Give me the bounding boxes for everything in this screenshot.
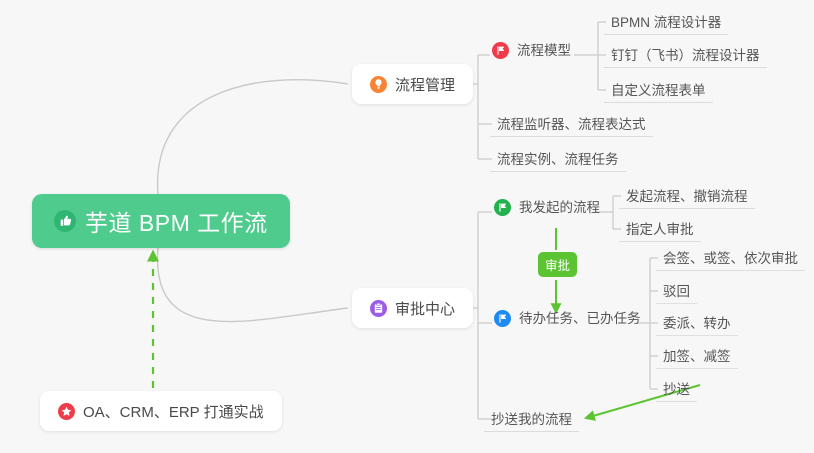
- leaf-label-add-remove-sign: 加签、减签: [663, 348, 731, 365]
- edge-root-to-approval-center: [158, 248, 348, 322]
- branch-node-process-management[interactable]: 流程管理: [352, 64, 473, 104]
- root-node[interactable]: 芋道 BPM 工作流: [32, 194, 290, 248]
- leaf-countersign[interactable]: 会签、或签、依次审批: [656, 245, 805, 271]
- root-label: 芋道 BPM 工作流: [85, 204, 268, 238]
- leaf-label-process-listener: 流程监听器、流程表达式: [497, 116, 646, 133]
- footer-node-label: OA、CRM、ERP 打通实战: [83, 401, 264, 422]
- annotation-badge-approval-label: 审批: [545, 255, 570, 274]
- leaf-add-remove-sign[interactable]: 加签、减签: [656, 343, 738, 369]
- clipboard-icon: [370, 300, 387, 317]
- leaf-cc-to-me[interactable]: 抄送我的流程: [484, 406, 579, 432]
- branch-label-approval-center: 审批中心: [395, 298, 455, 319]
- leaf-delegate-transfer[interactable]: 委派、转办: [656, 310, 738, 336]
- mindmap-canvas: 芋道 BPM 工作流 流程管理 流程模型 BPMN 流程设计器 钉钉（飞书: [0, 0, 814, 453]
- node-todo-done-tasks[interactable]: 待办任务、已办任务: [492, 310, 641, 327]
- leaf-process-instance[interactable]: 流程实例、流程任务: [490, 146, 626, 172]
- edge-root-to-process-management: [158, 80, 348, 195]
- leaf-label-process-instance: 流程实例、流程任务: [497, 151, 619, 168]
- node-label-my-initiated: 我发起的流程: [519, 199, 600, 216]
- footer-node-integration[interactable]: OA、CRM、ERP 打通实战: [40, 391, 282, 431]
- leaf-bpmn-designer[interactable]: BPMN 流程设计器: [604, 9, 728, 35]
- branch-label-process-management: 流程管理: [395, 74, 455, 95]
- node-process-model[interactable]: 流程模型: [490, 42, 571, 59]
- star-icon: [58, 403, 75, 420]
- node-my-initiated[interactable]: 我发起的流程: [492, 199, 600, 216]
- leaf-label-reject: 驳回: [663, 283, 690, 300]
- branch-node-approval-center[interactable]: 审批中心: [352, 288, 473, 328]
- annotation-badge-approval: 审批: [538, 252, 577, 277]
- node-label-todo-done-tasks: 待办任务、已办任务: [519, 310, 641, 327]
- lightbulb-icon: [370, 76, 387, 93]
- leaf-label-bpmn-designer: BPMN 流程设计器: [611, 14, 721, 31]
- flag-icon: [494, 310, 511, 327]
- leaf-process-listener[interactable]: 流程监听器、流程表达式: [490, 111, 653, 137]
- thumbs-up-icon: [54, 210, 76, 232]
- leaf-cc[interactable]: 抄送: [656, 376, 697, 402]
- leaf-label-dingtalk-designer: 钉钉（飞书）流程设计器: [611, 47, 760, 64]
- leaf-label-cc: 抄送: [663, 381, 690, 398]
- leaf-label-delegate-transfer: 委派、转办: [663, 315, 731, 332]
- leaf-start-cancel-process[interactable]: 发起流程、撤销流程: [619, 183, 755, 209]
- leaf-custom-form[interactable]: 自定义流程表单: [604, 77, 713, 103]
- leaf-label-cc-to-me: 抄送我的流程: [491, 411, 572, 428]
- leaf-label-custom-form: 自定义流程表单: [611, 82, 706, 99]
- leaf-label-assigned-approver: 指定人审批: [626, 221, 694, 238]
- leaf-reject[interactable]: 驳回: [656, 278, 697, 304]
- leaf-label-countersign: 会签、或签、依次审批: [663, 250, 798, 267]
- leaf-label-start-cancel-process: 发起流程、撤销流程: [626, 188, 748, 205]
- flag-icon: [494, 199, 511, 216]
- leaf-dingtalk-designer[interactable]: 钉钉（飞书）流程设计器: [604, 42, 767, 68]
- leaf-assigned-approver[interactable]: 指定人审批: [619, 216, 701, 242]
- flag-icon: [492, 42, 509, 59]
- node-label-process-model: 流程模型: [517, 42, 571, 59]
